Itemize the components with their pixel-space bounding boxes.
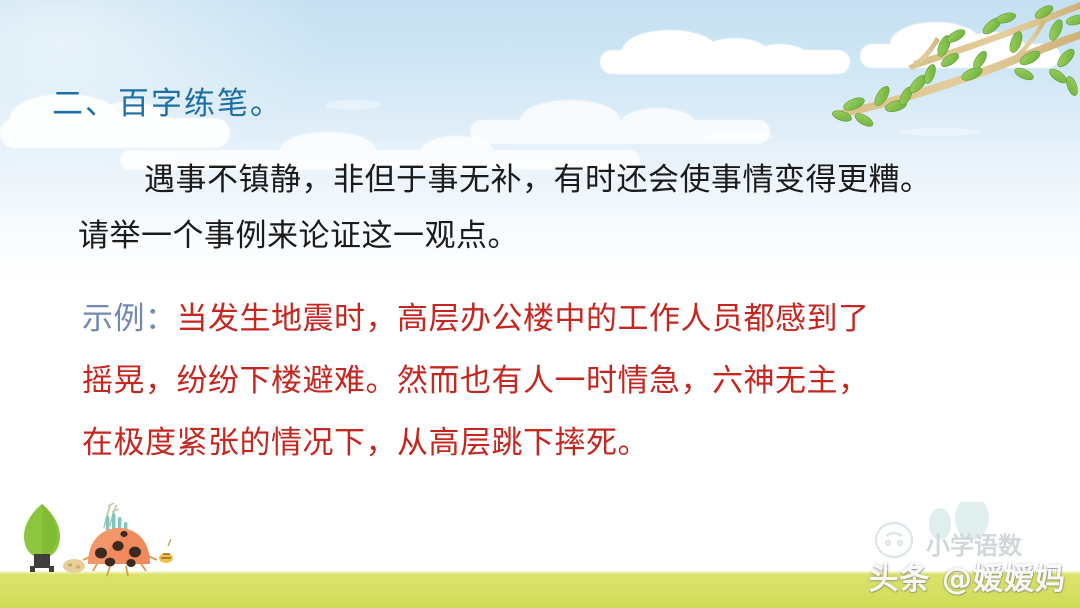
example-line-1-text: 当发生地震时，高层办公楼中的工作人员都感到了 [177,301,870,337]
scenery-group [0,496,260,588]
example-line-1: 示例：当发生地震时，高层办公楼中的工作人员都感到了 [82,288,1062,350]
pebble-icon [63,559,85,573]
cloud-icon [600,28,850,74]
prompt-line-1-text: 遇事不镇静，非但于事无补，有时还会使事情变得更糟。 [144,162,932,198]
handle-watermark: 头条 @嫒嫒妈 [869,554,1066,598]
cloud-wisp-icon [325,100,381,110]
example-line-3: 在极度紧张的情况下，从高层跳下摔死。 [82,412,1062,474]
example-block: 示例：当发生地震时，高层办公楼中的工作人员都感到了 摇晃，纷纷下楼避难。然而也有… [82,288,1062,474]
cloud-wisp-icon [705,133,775,141]
slide-canvas: 二、百字练笔。 遇事不镇静，非但于事无补，有时还会使事情变得更糟。 请举一个事例… [0,0,1080,608]
example-label: 示例： [82,301,177,337]
prompt-block: 遇事不镇静，非但于事无补，有时还会使事情变得更糟。 请举一个事例来论证这一观点。 [78,152,1058,264]
tree-branch-icon [820,0,1080,140]
bee-icon [159,539,173,563]
ladybug-icon [83,503,173,576]
page-title: 二、百字练笔。 [52,78,283,123]
prompt-line-1: 遇事不镇静，非但于事无补，有时还会使事情变得更糟。 [78,152,1058,208]
small-tree-icon [24,504,60,572]
example-line-2: 摇晃，纷纷下楼避难。然而也有人一时情急，六神无主， [82,350,1062,412]
prompt-line-2: 请举一个事例来论证这一观点。 [78,208,1058,264]
